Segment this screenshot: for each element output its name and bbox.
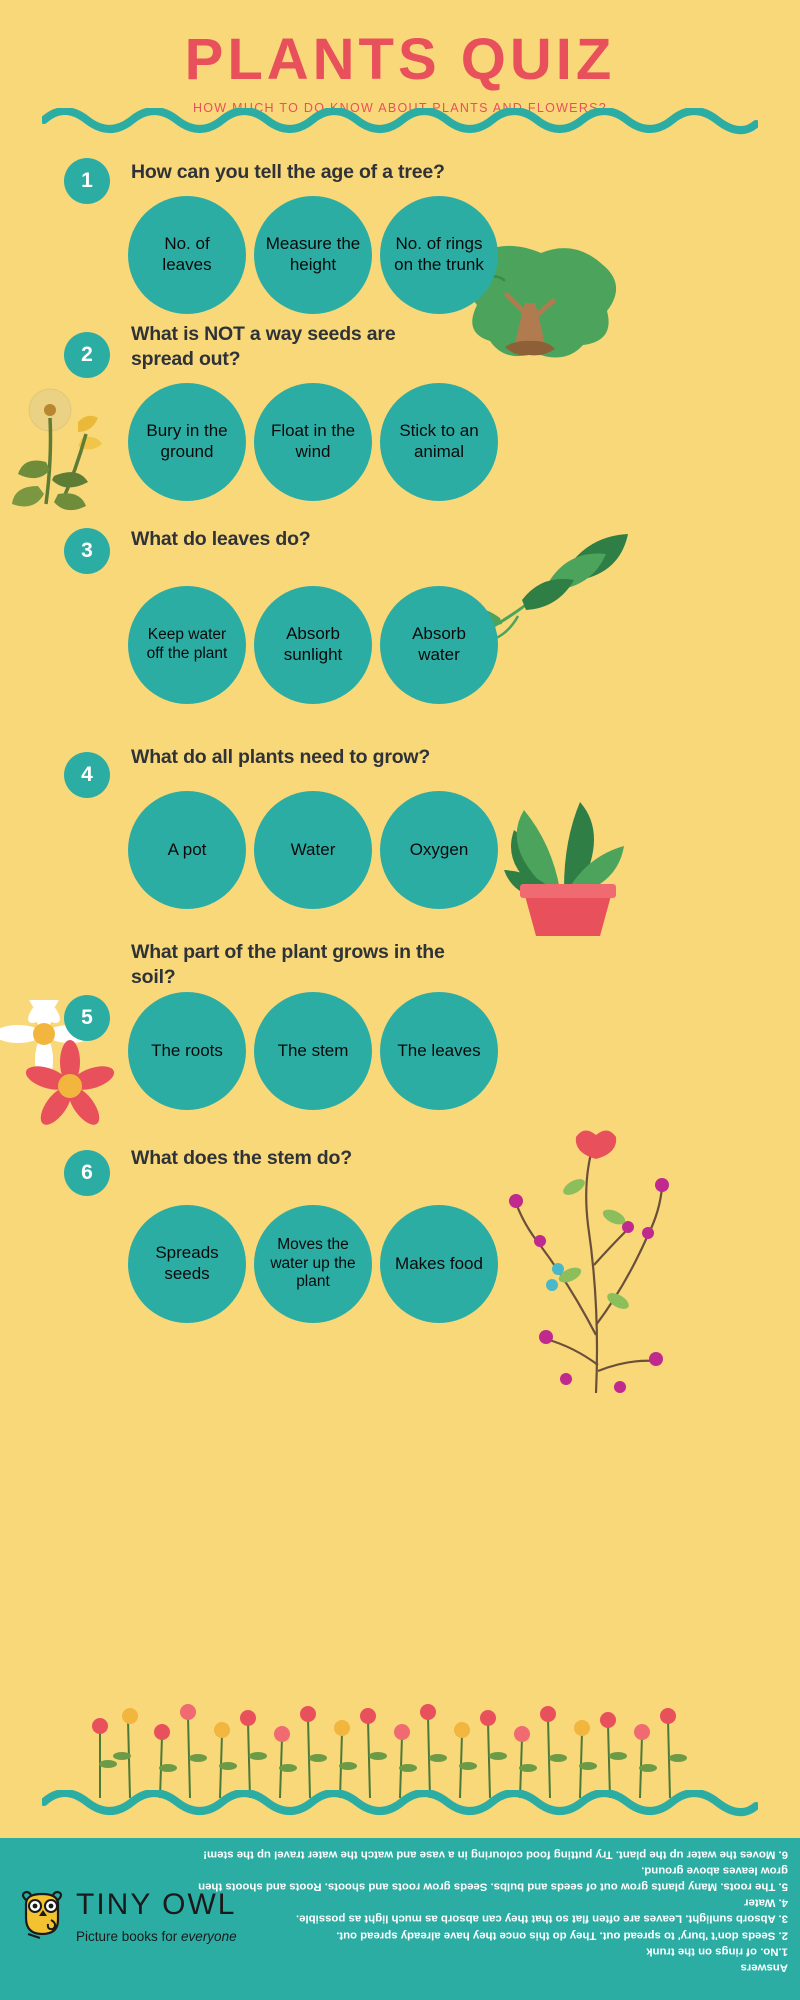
owl-icon [18, 1890, 70, 1946]
answer-option-6-3[interactable]: Makes food [380, 1205, 498, 1323]
answer-option-4-2[interactable]: Water [254, 791, 372, 909]
answer-option-2-3[interactable]: Stick to an animal [380, 383, 498, 501]
brand-tagline-prefix: Picture books for [76, 1929, 181, 1944]
flower-meadow-illustration [80, 1690, 700, 1800]
question-text-5: What part of the plant grows in the soil… [131, 940, 486, 990]
answers-key: Answers 1.No. of rings on the trunk 2. S… [188, 1846, 788, 1976]
answer-option-1-2[interactable]: Measure the height [254, 196, 372, 314]
footer: Answers 1.No. of rings on the trunk 2. S… [0, 1838, 800, 2000]
question-number-5: 5 [64, 995, 110, 1041]
answers-heading: Answers [188, 1959, 788, 1975]
brand-text: TINY OWL Picture books for everyone [76, 1890, 237, 1944]
question-text-6: What does the stem do? [131, 1146, 511, 1171]
answer-option-3-3[interactable]: Absorb water [380, 586, 498, 704]
answer-option-5-1[interactable]: The roots [128, 992, 246, 1110]
wave-divider-bottom [42, 1790, 758, 1822]
question-text-1: How can you tell the age of a tree? [131, 160, 511, 185]
question-number-6: 6 [64, 1150, 110, 1196]
brand-tagline: Picture books for everyone [76, 1929, 237, 1944]
answer-option-2-2[interactable]: Float in the wind [254, 383, 372, 501]
answer-option-5-2[interactable]: The stem [254, 992, 372, 1110]
wave-divider-top [42, 108, 758, 140]
answer-option-5-3[interactable]: The leaves [380, 992, 498, 1110]
answer-option-4-1[interactable]: A pot [128, 791, 246, 909]
header: PLANTS QUIZ HOW MUCH TO DO KNOW ABOUT PL… [0, 30, 800, 115]
page-title: PLANTS QUIZ [0, 30, 800, 91]
answer-option-6-2[interactable]: Moves the water up the plant [254, 1205, 372, 1323]
question-number-3: 3 [64, 528, 110, 574]
answer-option-1-1[interactable]: No. of leaves [128, 196, 246, 314]
question-text-2: What is NOT a way seeds are spread out? [131, 322, 461, 372]
answer-option-3-2[interactable]: Absorb sunlight [254, 586, 372, 704]
dandelion-illustration [8, 378, 118, 518]
question-text-4: What do all plants need to grow? [131, 745, 531, 770]
answer-option-1-3[interactable]: No. of rings on the trunk [380, 196, 498, 314]
question-number-1: 1 [64, 158, 110, 204]
infographic-page: PLANTS QUIZ HOW MUCH TO DO KNOW ABOUT PL… [0, 0, 800, 2000]
question-text-3: What do leaves do? [131, 527, 511, 552]
potted-plant-illustration [480, 760, 640, 940]
answer-option-4-3[interactable]: Oxygen [380, 791, 498, 909]
answer-option-3-1[interactable]: Keep water off the plant [128, 586, 246, 704]
answer-line-4: 4. Water [744, 1897, 788, 1909]
answer-line-6: 6. Moves the water up the plant. Try put… [203, 1848, 788, 1860]
answer-line-1: 1.No. of rings on the trunk [646, 1945, 788, 1957]
brand-logo[interactable]: TINY OWL Picture books for everyone [18, 1890, 237, 1946]
brand-name: TINY OWL [76, 1890, 237, 1920]
answer-line-3: 3. Absorb sunlight. Leaves are often fla… [296, 1913, 788, 1925]
berry-branch-illustration [500, 1125, 680, 1395]
brand-tagline-italic: everyone [181, 1929, 237, 1944]
answer-line-5: 5. The roots. Many plants grow out of se… [198, 1864, 788, 1892]
answer-line-2: 2. Seeds don't 'bury' to spread out. The… [336, 1929, 788, 1941]
answer-option-6-1[interactable]: Spreads seeds [128, 1205, 246, 1323]
question-number-2: 2 [64, 332, 110, 378]
question-number-4: 4 [64, 752, 110, 798]
answer-option-2-1[interactable]: Bury in the ground [128, 383, 246, 501]
